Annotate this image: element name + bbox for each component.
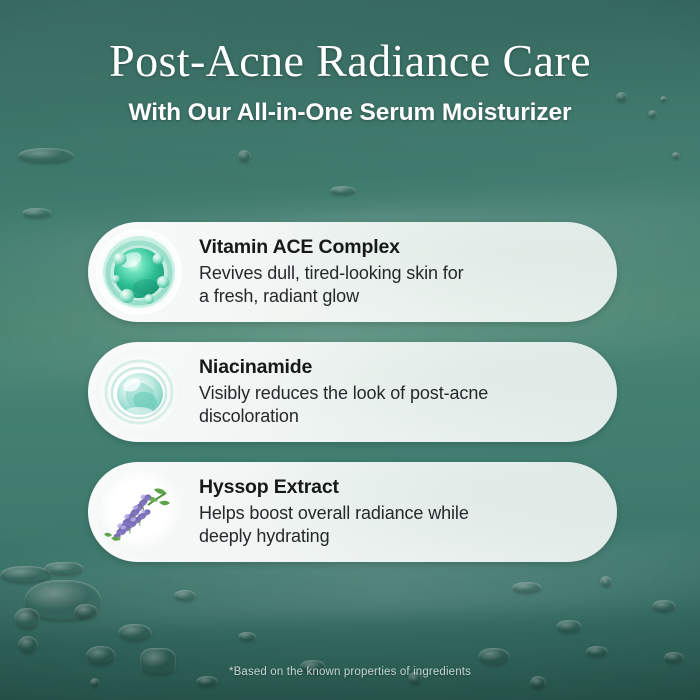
page-subtitle: With Our All-in-One Serum Moisturizer [0, 99, 700, 127]
poster-header: Post-Acne Radiance Care With Our All-in-… [0, 36, 700, 127]
ingredient-card[interactable]: Niacinamide Visibly reduces the look of … [88, 342, 617, 442]
ingredient-title: Niacinamide [199, 356, 488, 379]
ingredient-description: Visibly reduces the look of post-acne di… [199, 382, 488, 428]
ingredient-card-text: Niacinamide Visibly reduces the look of … [199, 356, 506, 427]
ingredient-title: Hyssop Extract [199, 476, 469, 499]
ingredient-description: Revives dull, tired-looking skin for a f… [199, 262, 464, 308]
product-infographic-poster: Post-Acne Radiance Care With Our All-in-… [0, 0, 700, 700]
ingredient-title: Vitamin ACE Complex [199, 236, 464, 259]
ingredient-card[interactable]: Vitamin ACE Complex Revives dull, tired-… [88, 222, 617, 322]
ingredient-card-text: Vitamin ACE Complex Revives dull, tired-… [199, 236, 482, 307]
serum-droplet-sphere-icon [96, 229, 182, 315]
ingredient-description: Helps boost overall radiance while deepl… [199, 502, 469, 548]
gel-droplet-icon [96, 349, 182, 435]
ingredient-card-text: Hyssop Extract Helps boost overall radia… [199, 476, 487, 547]
hyssop-flower-icon [96, 469, 182, 555]
ingredient-card-list: Vitamin ACE Complex Revives dull, tired-… [88, 222, 617, 582]
disclaimer-text: *Based on the known properties of ingred… [0, 666, 700, 678]
ingredient-card[interactable]: Hyssop Extract Helps boost overall radia… [88, 462, 617, 562]
page-title: Post-Acne Radiance Care [0, 36, 700, 86]
